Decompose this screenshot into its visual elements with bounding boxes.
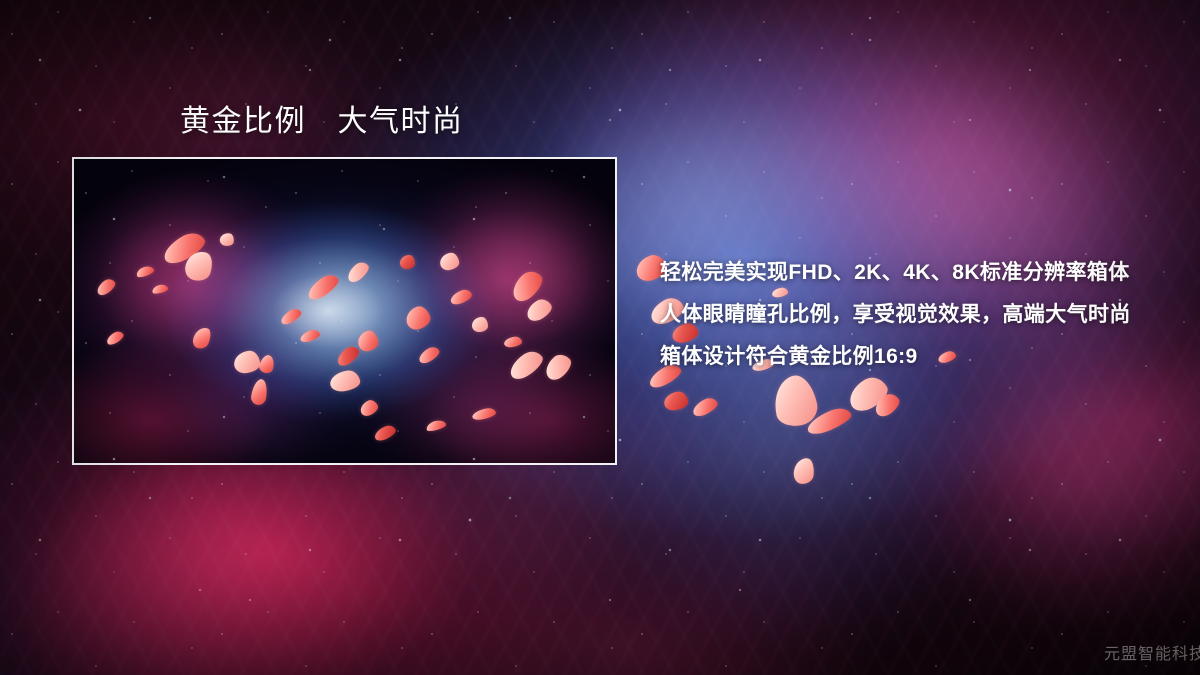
inset-nebula-lower-right (377, 335, 572, 465)
body-line-3: 箱体设计符合黄金比例16:9 (660, 336, 1180, 378)
inset-nebula-right (420, 183, 615, 359)
body-line-2: 人体眼睛瞳孔比例，享受视觉效果，高端大气时尚 (660, 294, 1180, 336)
framed-preview-image (72, 157, 617, 465)
presentation-slide: 黄金比例 大气时尚 (0, 0, 1200, 675)
watermark-label: 元盟智能科技 (1104, 640, 1200, 664)
body-text-block: 轻松完美实现FHD、2K、4K、8K标准分辨率箱体 人体眼睛瞳孔比例，享受视觉效… (660, 252, 1180, 378)
inset-nebula-lower-left (171, 329, 333, 465)
body-line-1: 轻松完美实现FHD、2K、4K、8K标准分辨率箱体 (660, 252, 1180, 294)
page-title: 黄金比例 大气时尚 (180, 103, 464, 141)
